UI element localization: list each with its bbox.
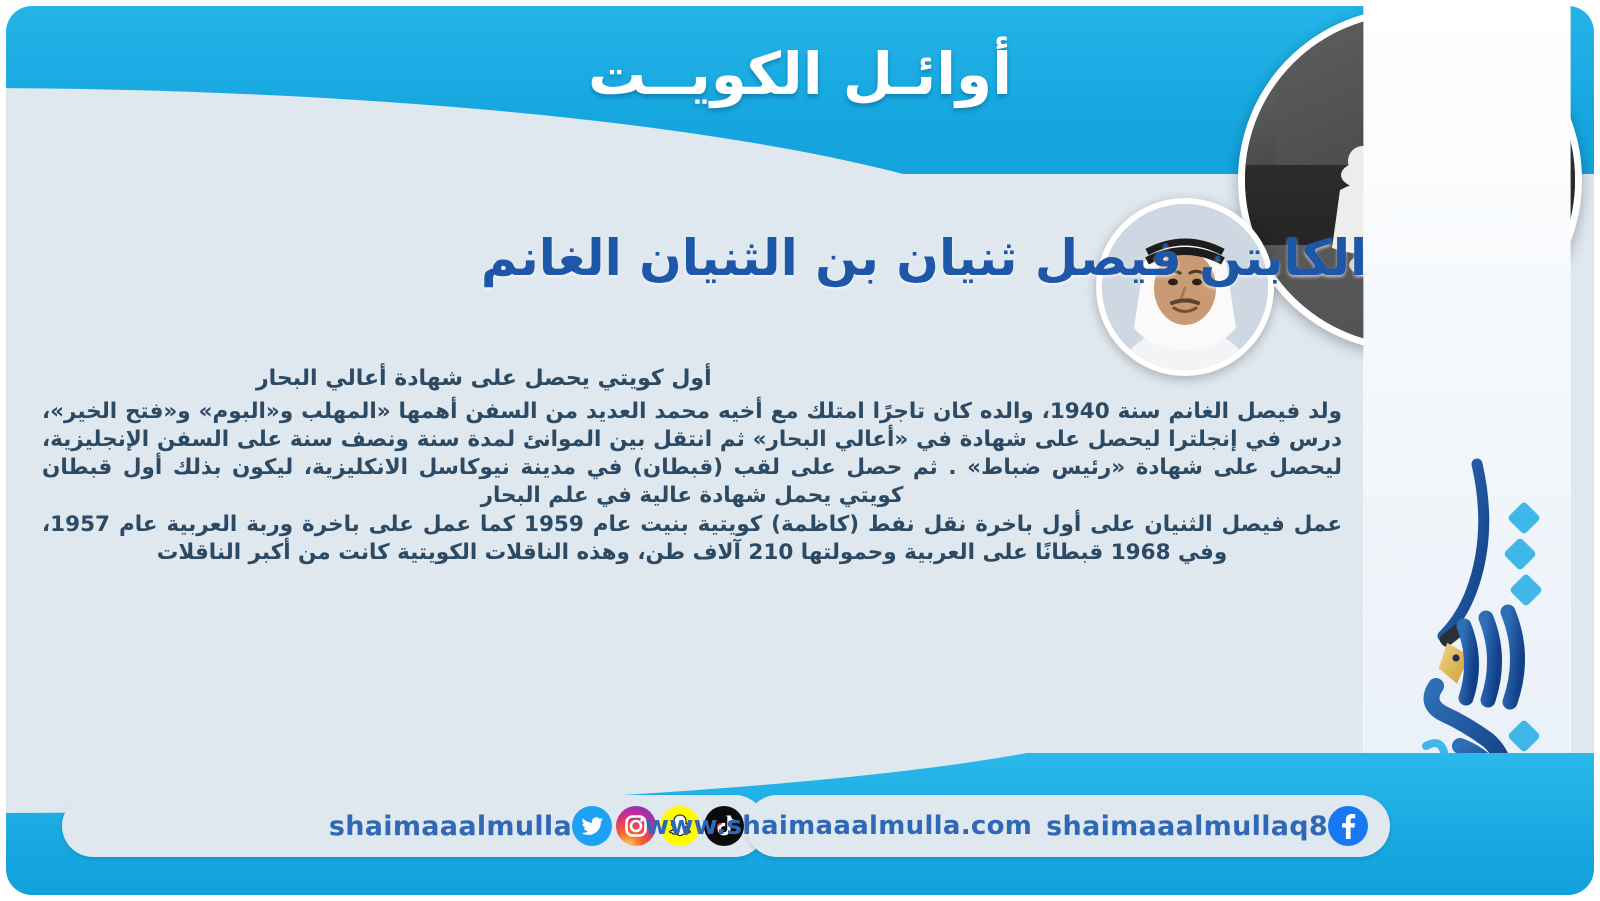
article-heading: الكابتن فيصل ثنيان بن الثنيان الغانم: [424, 230, 1424, 288]
social-handle[interactable]: shaimaaalmulla: [329, 811, 572, 842]
card-frame: أوائـل الكويــت: [6, 6, 1594, 895]
article-body: ولد فيصل الغانم سنة 1940، والده كان تاجر…: [42, 398, 1342, 568]
website-url[interactable]: www.shaimaaalmulla.com: [645, 811, 1032, 841]
facebook-website-pill: shaimaaalmullaq8 www.shaimaaalmulla.com: [746, 795, 1390, 857]
facebook-icon[interactable]: [1328, 806, 1368, 846]
twitter-icon[interactable]: [572, 806, 612, 846]
article-paragraph: عمل فيصل الثنيان على أول باخرة نقل نفط (…: [42, 511, 1342, 567]
facebook-handle[interactable]: shaimaaalmullaq8: [1046, 811, 1328, 842]
article-paragraph: ولد فيصل الغانم سنة 1940، والده كان تاجر…: [42, 398, 1342, 510]
infographic-card: أوائـل الكويــت: [0, 0, 1600, 901]
shaimaa-almulla-logo: [1364, 446, 1570, 806]
article-lede: أول كويتي يحصل على شهادة أعالي البحار: [256, 366, 1336, 391]
